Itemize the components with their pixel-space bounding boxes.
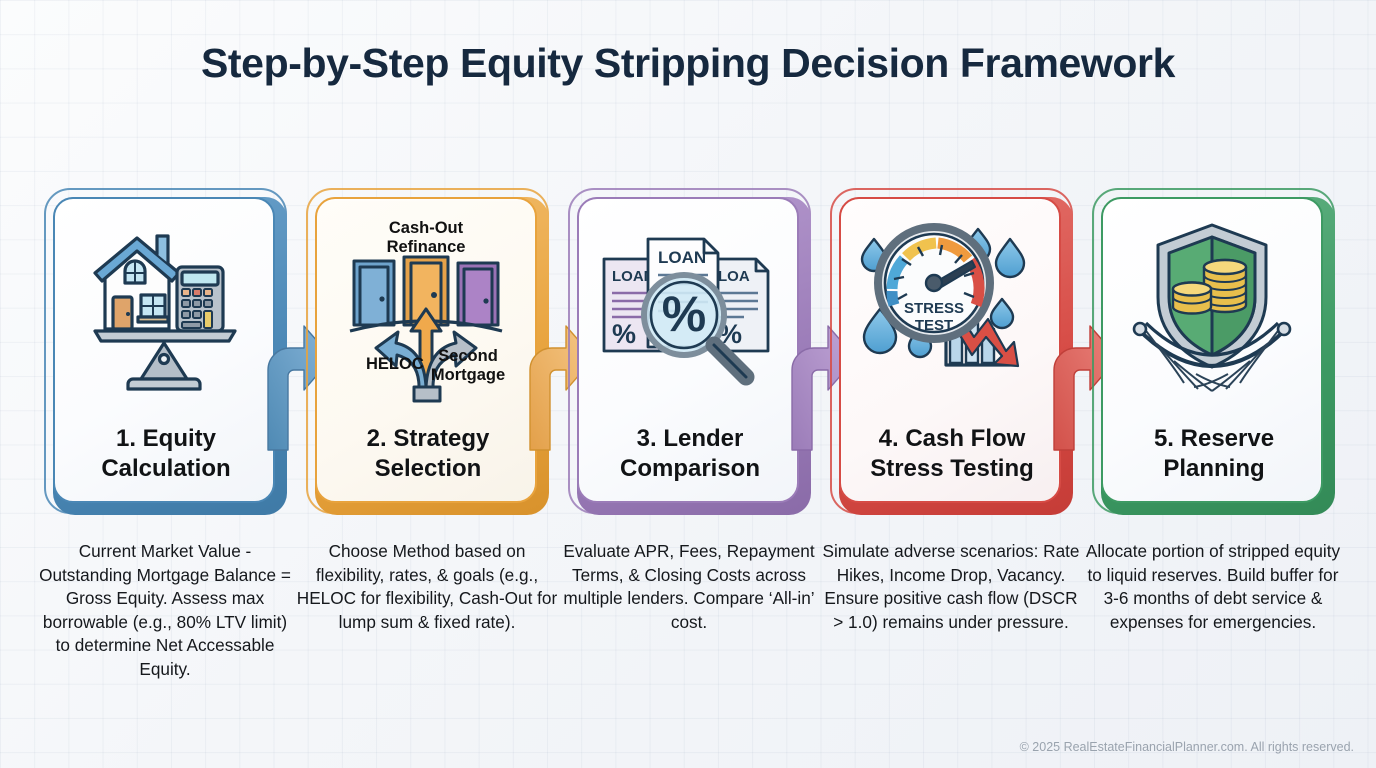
step-face-1: 1. Equity Calculation (53, 197, 275, 503)
step-card-2[interactable]: Cash-Out Refinance (306, 188, 549, 708)
step-title-4: 4. Cash Flow Stress Testing (847, 424, 1057, 483)
svg-text:TEST: TEST (915, 317, 953, 334)
step-face-2: Cash-Out Refinance (315, 197, 537, 503)
step-caption-4: Simulate adverse scenarios: Rate Hikes, … (820, 540, 1082, 634)
infographic-page: Step-by-Step Equity Stripping Decision F… (0, 0, 1376, 768)
page-title: Step-by-Step Equity Stripping Decision F… (0, 40, 1376, 87)
svg-text:LOA: LOA (718, 268, 750, 285)
step-title-2: 2. Strategy Selection (323, 424, 533, 483)
svg-text:STRESS: STRESS (904, 300, 964, 317)
svg-text:Refinance: Refinance (387, 238, 466, 256)
step-card-4[interactable]: STRESS TEST 4. Cash Flow Stress Testing (830, 188, 1073, 708)
shield-coins-safety-net-icon (1103, 211, 1321, 407)
copyright-footer: © 2025 RealEstateFinancialPlanner.com. A… (1020, 740, 1354, 754)
step-card-5[interactable]: 5. Reserve Planning Allocate portion of … (1092, 188, 1335, 708)
step-card-3[interactable]: LOAN % LOA % (568, 188, 811, 708)
svg-text:%: % (612, 319, 636, 349)
step-face-4: STRESS TEST 4. Cash Flow Stress Testing (839, 197, 1061, 503)
svg-text:Second: Second (438, 347, 498, 365)
stress-test-gauge-droplets-declining-chart-icon: STRESS TEST (841, 211, 1059, 407)
step-caption-3: Evaluate APR, Fees, Repayment Terms, & C… (558, 540, 820, 634)
step-title-5: 5. Reserve Planning (1109, 424, 1319, 483)
step-caption-1: Current Market Value - Outstanding Mortg… (34, 540, 296, 681)
step-caption-5: Allocate portion of stripped equity to l… (1082, 540, 1344, 634)
step-title-1: 1. Equity Calculation (61, 424, 271, 483)
step-face-3: LOAN % LOA % (577, 197, 799, 503)
step-caption-2: Choose Method based on flexibility, rate… (296, 540, 558, 634)
svg-text:Cash-Out: Cash-Out (389, 219, 464, 237)
svg-text:Mortgage: Mortgage (431, 366, 505, 384)
step-card-1[interactable]: 1. Equity Calculation Current Market Val… (44, 188, 287, 708)
step-face-5: 5. Reserve Planning (1101, 197, 1323, 503)
loan-documents-magnifier-percent-icon: LOAN % LOA % (579, 211, 797, 407)
three-doors-branching-arrows-icon: Cash-Out Refinance (317, 211, 535, 407)
svg-text:%: % (662, 286, 706, 342)
svg-text:LOAN: LOAN (658, 248, 706, 267)
step-track: 1. Equity Calculation Current Market Val… (44, 188, 1332, 708)
step-title-3: 3. Lender Comparison (585, 424, 795, 483)
svg-text:HELOC: HELOC (366, 355, 424, 373)
house-calculator-balance-scale-icon (55, 211, 273, 407)
